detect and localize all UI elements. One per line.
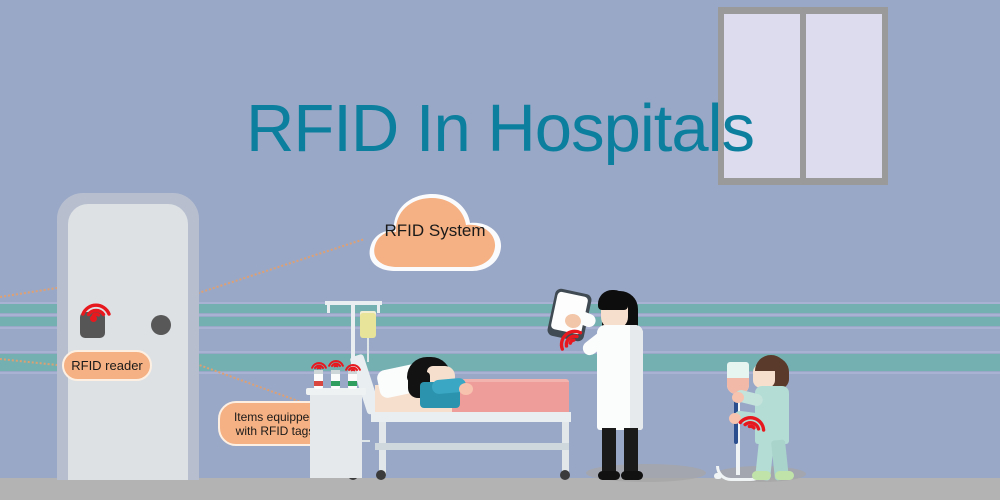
- items-label-line1: Items equipped: [234, 410, 316, 424]
- iv-hook-left: [327, 301, 330, 313]
- rfid-wave-icon: [79, 297, 113, 317]
- doctor-lab-coat-shade: [630, 325, 643, 430]
- rfid-reader-label: RFID reader: [62, 350, 152, 381]
- doctor-shoe-right: [621, 471, 643, 480]
- medicine-bottle-band: [314, 381, 323, 386]
- rfid-system-label-text: RFID System: [362, 221, 508, 241]
- medicine-bottle-band: [348, 381, 357, 386]
- items-label-line2: with RFID tags: [234, 424, 316, 438]
- nurse-hand-upper: [732, 392, 744, 403]
- nurse-iv-stand-foot-left: [714, 473, 722, 479]
- medicine-bottle-cap: [331, 370, 340, 374]
- iv-bag-icon: [360, 313, 376, 338]
- floor: [0, 478, 1000, 500]
- page-title: RFID In Hospitals: [0, 95, 1000, 162]
- medicine-bottle-band: [331, 381, 340, 386]
- nurse-shoe-left: [752, 471, 771, 480]
- iv-tube: [367, 338, 369, 362]
- door-handle-icon[interactable]: [151, 315, 171, 335]
- iv-hook-right: [377, 301, 380, 313]
- hospital-rfid-illustration: RFID In Hospitals RFID reader RFID Sy: [0, 0, 1000, 500]
- rfid-reader-label-text: RFID reader: [71, 358, 143, 373]
- doctor-hair-front: [598, 290, 628, 310]
- bed-lower-rail: [375, 443, 569, 450]
- rfid-wave-icon: [310, 358, 328, 370]
- bed-wheel-left: [376, 470, 386, 480]
- bed-base: [371, 412, 571, 422]
- bedside-cabinet-top: [306, 388, 366, 395]
- door-panel[interactable]: [68, 204, 188, 480]
- rfid-system-cloud: RFID System: [362, 187, 508, 275]
- rfid-wave-icon: [344, 360, 362, 372]
- bedside-cabinet[interactable]: [310, 393, 362, 478]
- bed-wheel-right: [560, 470, 570, 480]
- doctor-shoe-left: [598, 471, 620, 480]
- medicine-bottle-cap: [314, 370, 323, 374]
- rfid-wave-icon: [327, 356, 345, 368]
- patient-hand: [459, 383, 473, 395]
- nurse-shoe-right: [775, 471, 794, 480]
